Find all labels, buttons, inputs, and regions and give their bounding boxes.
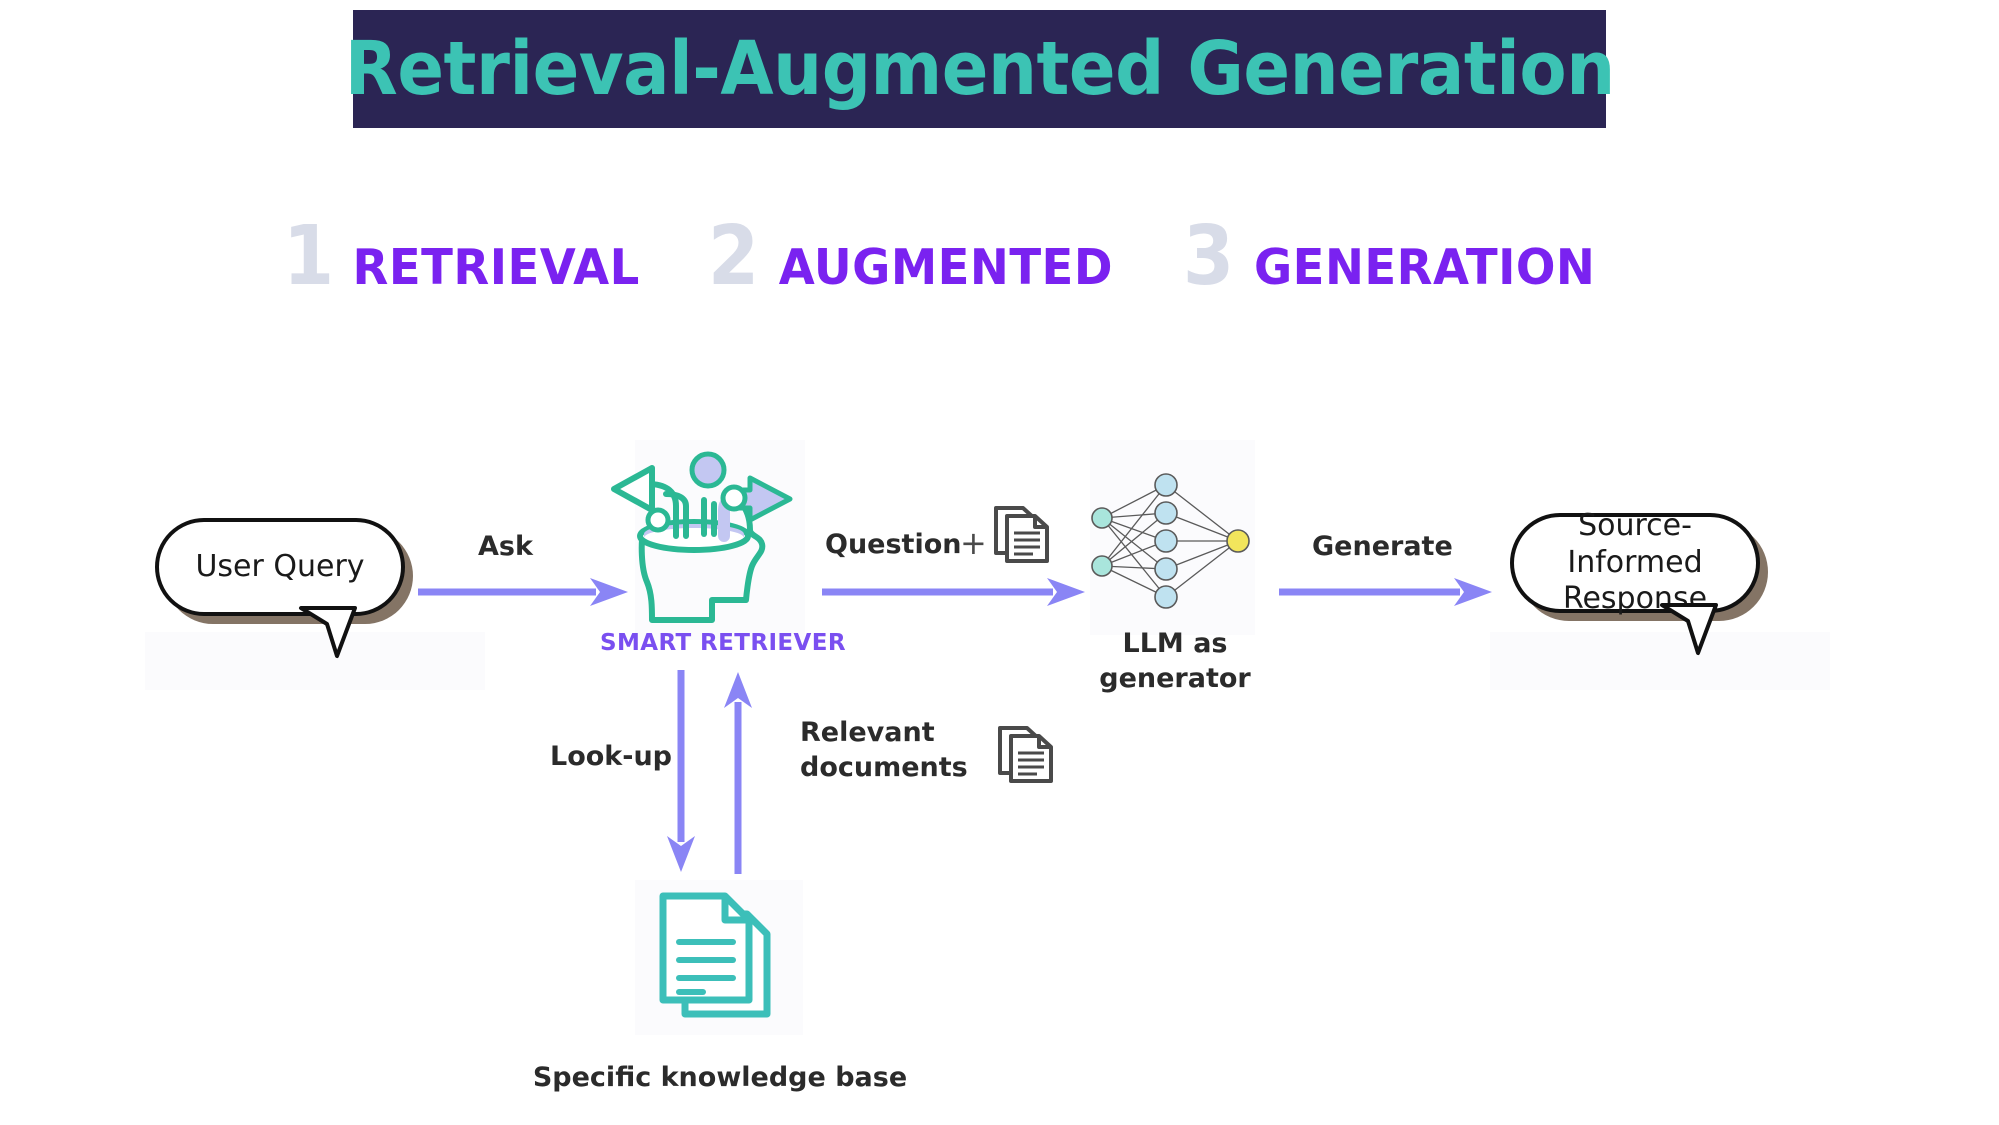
page-title: Retrieval-Augmented Generation: [345, 32, 1615, 106]
generate-arrow: [1279, 578, 1494, 606]
user-query-bubble[interactable]: User Query: [155, 518, 405, 616]
step-3-number: 3: [1183, 216, 1234, 298]
response-bubble-line1: Source-Informed: [1567, 508, 1702, 580]
question-arrow: [822, 578, 1087, 606]
response-bubble-tail: [1658, 603, 1728, 658]
step-1-label: RETRIEVAL: [353, 243, 640, 292]
generate-label: Generate: [1312, 529, 1453, 564]
llm-caption: LLM as generator: [1060, 626, 1290, 696]
lookup-arrow-down: [667, 670, 695, 874]
relevant-documents-label: Relevant documents: [800, 715, 968, 785]
step-1-number: 1: [283, 216, 334, 298]
question-plus-sign: +: [960, 523, 987, 565]
llm-caption-line2: generator: [1060, 661, 1290, 696]
llm-neural-network-icon[interactable]: [1086, 470, 1261, 615]
user-query-bubble-wrap: User Query: [155, 518, 405, 616]
response-bubble[interactable]: Source-Informed Response: [1510, 513, 1760, 613]
title-banner: Retrieval-Augmented Generation: [353, 10, 1606, 128]
user-query-bubble-label: User Query: [181, 549, 378, 586]
ask-arrow: [418, 578, 630, 606]
response-bubble-wrap: Source-Informed Response: [1510, 513, 1760, 613]
step-1-retrieval: 1 RETRIEVAL: [280, 216, 647, 298]
knowledge-base-document-icon[interactable]: [655, 890, 780, 1030]
smart-retriever-caption: SMART RETRIEVER: [600, 630, 820, 656]
response-bubble-label: Source-Informed Response: [1514, 508, 1756, 618]
relevant-documents-arrow-up: [724, 668, 752, 874]
llm-caption-line1: LLM as: [1060, 626, 1290, 661]
relevant-documents-icon: [997, 723, 1055, 785]
step-2-augmented: 2 AUGMENTED: [705, 216, 1122, 298]
ask-label: Ask: [478, 529, 533, 564]
step-2-number: 2: [708, 216, 759, 298]
relevant-documents-line2: documents: [800, 750, 968, 785]
user-query-bubble-tail: [297, 606, 367, 661]
knowledge-base-caption: Specific knowledge base: [490, 1060, 950, 1095]
steps-row: 1 RETRIEVAL 2 AUGMENTED 3 GENERATION: [280, 212, 1710, 302]
lookup-label: Look-up: [550, 739, 672, 774]
step-3-generation: 3 GENERATION: [1180, 216, 1604, 298]
question-label: Question: [825, 527, 962, 562]
step-3-label: GENERATION: [1254, 243, 1595, 292]
smart-retriever-head-icon[interactable]: [612, 448, 802, 633]
question-documents-icon: [993, 503, 1051, 565]
relevant-documents-line1: Relevant: [800, 715, 968, 750]
step-2-label: AUGMENTED: [779, 243, 1113, 292]
